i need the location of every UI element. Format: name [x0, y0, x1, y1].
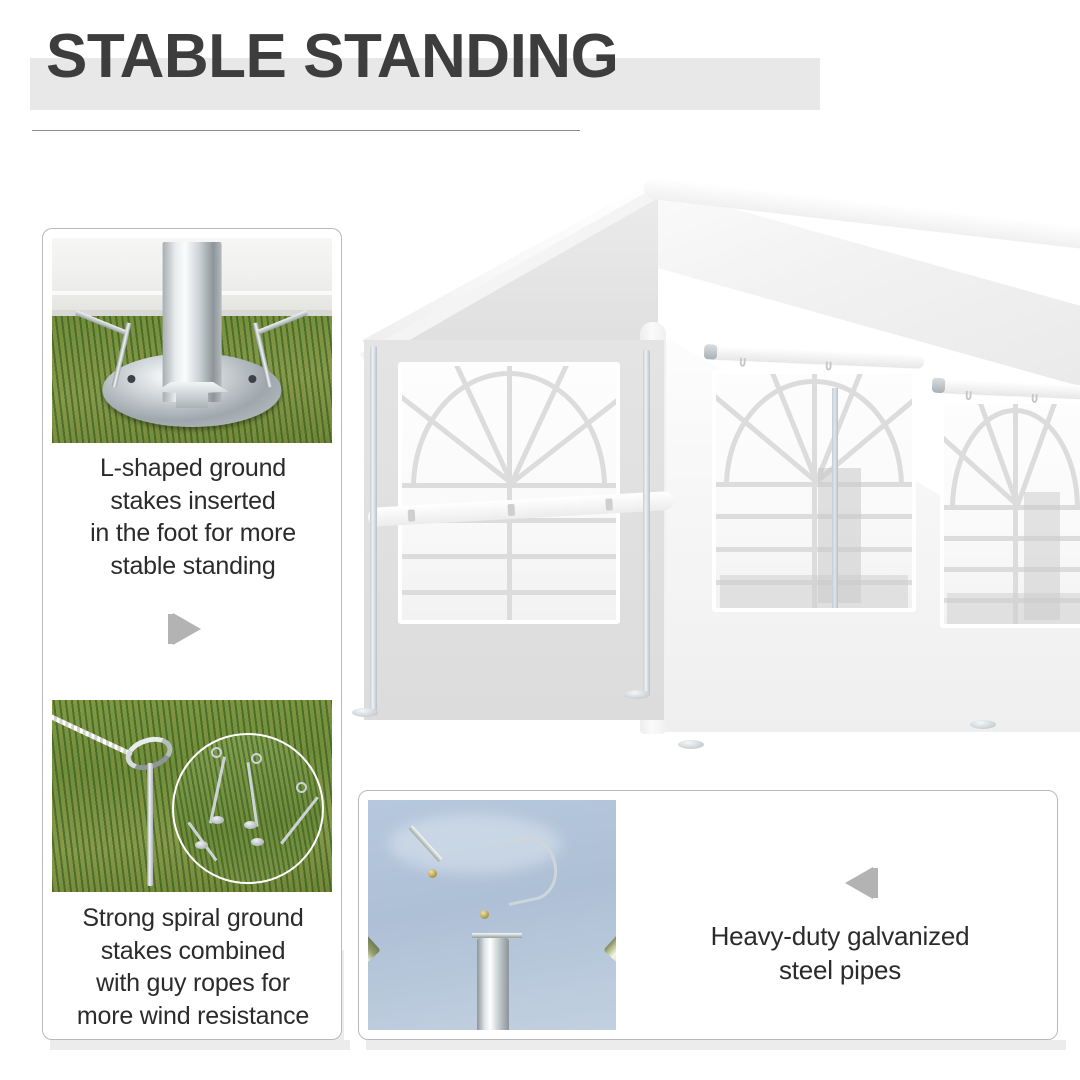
right-triangle-marker-icon — [168, 613, 201, 645]
vertical-steel-pole — [163, 242, 222, 402]
mini-stake-ring — [251, 753, 262, 764]
tent-foot-plate — [624, 690, 650, 699]
window-center-mullion — [812, 374, 817, 608]
mini-stake-disc — [244, 821, 257, 829]
mini-stake-disc — [211, 816, 224, 824]
front-face-opening — [364, 340, 664, 720]
front-right-pole — [643, 350, 650, 696]
caption-line: L-shaped ground — [52, 452, 334, 485]
pipe-bolt — [480, 910, 489, 919]
caption-line: with guy ropes for — [48, 967, 338, 1000]
caption-line: stable standing — [52, 550, 334, 583]
window-rail — [402, 554, 616, 559]
window-tinted-pane — [720, 575, 908, 608]
window-center-mullion — [507, 366, 512, 620]
window-rail — [716, 514, 912, 519]
feature-3-caption: Heavy-duty galvanized steel pipes — [640, 920, 1040, 988]
window-rail — [716, 547, 912, 552]
arrow-bar — [873, 868, 878, 898]
spiral-stakes-inset-circle — [172, 733, 323, 884]
feature-1-caption: L-shaped ground stakes inserted in the f… — [52, 452, 334, 582]
side-window-2 — [940, 400, 1080, 628]
rod-hook-icon — [739, 358, 745, 367]
tent-foot-plate — [970, 720, 996, 729]
header: STABLE STANDING — [0, 0, 1080, 150]
rod-end-cap — [932, 378, 946, 394]
window-rail — [402, 483, 616, 488]
caption-line: steel pipes — [640, 954, 1040, 988]
curtain-clip-icon — [408, 509, 416, 521]
mini-spiral-stake — [280, 796, 319, 844]
product-tent-illustration — [352, 162, 1080, 782]
galvanized-steel-pipe-junction-photo — [368, 800, 616, 1030]
curtain-clip-icon — [605, 498, 613, 510]
caption-line: Heavy-duty galvanized — [640, 920, 1040, 954]
rod-end-cap — [704, 344, 718, 360]
side-window-1 — [712, 370, 916, 612]
caption-line: in the foot for more — [52, 517, 334, 550]
feature-2-caption: Strong spiral ground stakes combined wit… — [48, 902, 338, 1032]
arrow-triangle — [845, 867, 873, 899]
curtain-clip-icon — [507, 504, 515, 516]
mini-stake-disc — [251, 838, 264, 846]
window-rail — [402, 590, 616, 595]
mini-spiral-stake — [246, 762, 258, 827]
pipe-bolt — [428, 869, 437, 878]
caption-line: Strong spiral ground — [48, 902, 338, 935]
window-roll-rod-1 — [708, 345, 924, 367]
front-left-pole — [370, 346, 377, 716]
mini-stake-ring — [211, 747, 222, 758]
window-center-mullion — [1013, 404, 1018, 624]
left-panel-shadow — [50, 1040, 350, 1050]
rod-hook-icon — [965, 391, 971, 400]
steel-pipe-vertical — [477, 938, 509, 1030]
left-triangle-marker-icon — [845, 867, 878, 899]
window-rail — [716, 482, 912, 487]
window-tinted-pane — [947, 593, 1080, 624]
pipe-joint-band — [472, 933, 522, 938]
interior-support-pole — [832, 388, 838, 608]
caption-line: stakes combined — [48, 935, 338, 968]
bottom-panel-shadow — [366, 1040, 1066, 1050]
front-window — [398, 362, 620, 624]
title-divider-rule — [32, 130, 580, 131]
spiral-stake-shaft — [147, 763, 153, 886]
mini-spiral-stake — [209, 756, 226, 823]
page-title: STABLE STANDING — [46, 26, 618, 88]
arrow-triangle — [173, 613, 201, 645]
spiral-ground-stake-with-guy-rope-photo — [52, 700, 332, 892]
tent-foot-plate — [352, 708, 378, 717]
mini-stake-ring — [296, 782, 307, 793]
caption-line: more wind resistance — [48, 1000, 338, 1033]
l-shaped-ground-stake-in-base-plate-photo — [52, 238, 332, 443]
window-roll-rod-2 — [936, 379, 1080, 399]
tent-foot-plate — [678, 740, 704, 749]
caption-line: stakes inserted — [52, 485, 334, 518]
